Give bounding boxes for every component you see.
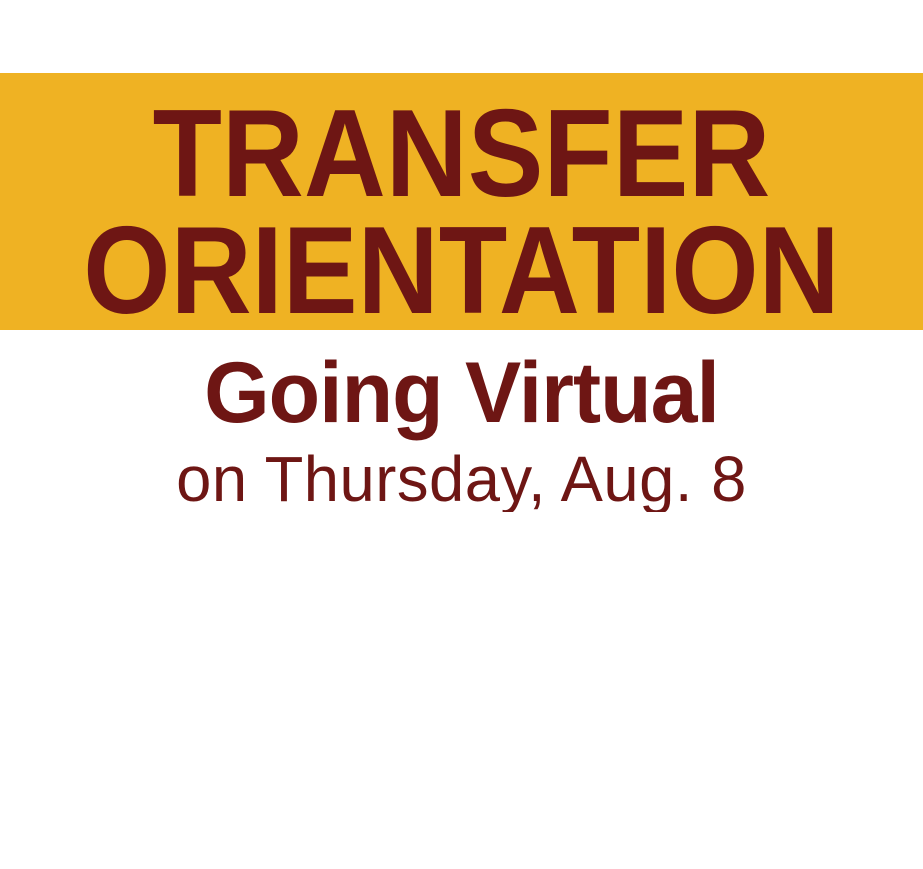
poster-canvas: TRANSFER ORIENTATION Going Virtual on Th… [0, 0, 923, 869]
top-white-spacer [0, 0, 923, 73]
headline-line-transfer: TRANSFER [39, 92, 884, 216]
headline-line-orientation: ORIENTATION [44, 209, 879, 330]
subhead-going-virtual: Going Virtual [9, 350, 914, 436]
subhead-event-date: on Thursday, Aug. 8 [5, 447, 919, 511]
headline-gold-banner: TRANSFER ORIENTATION [0, 73, 923, 330]
lower-blank-area [0, 512, 923, 869]
